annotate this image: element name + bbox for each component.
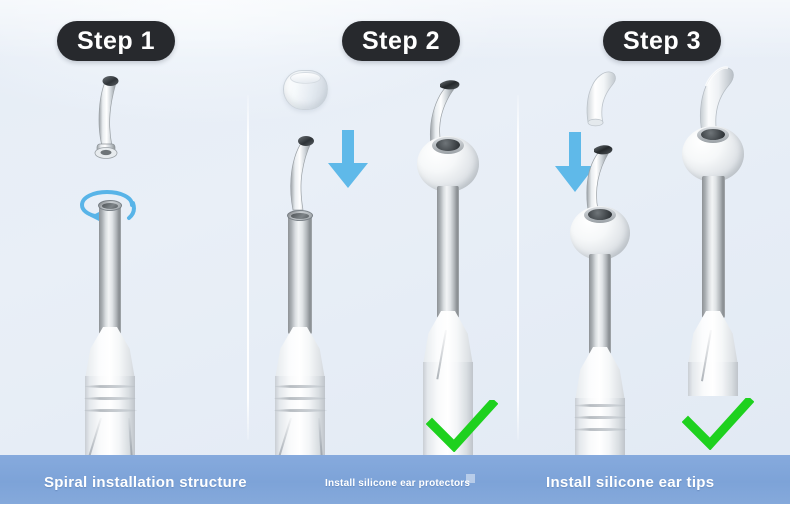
section-divider-1 <box>247 95 249 440</box>
metal-tip-icon <box>281 130 325 222</box>
green-check-icon <box>426 400 498 452</box>
caption-step-3: Install silicone ear tips <box>546 474 714 491</box>
handle-ring-2 <box>84 397 136 400</box>
metal-shaft-icon <box>589 254 611 354</box>
section-divider-2 <box>517 95 519 440</box>
arrow-down-icon <box>326 130 370 190</box>
metal-shaft-icon <box>702 176 725 318</box>
silicone-ear-tip-icon <box>578 66 622 128</box>
caption-step-1: Spiral installation structure <box>44 474 247 491</box>
bulb-hole <box>701 129 725 140</box>
handle-ring-3 <box>84 409 137 412</box>
handle-ring-3 <box>274 409 327 412</box>
shaft-opening-inner <box>102 203 118 209</box>
handle-ring-3 <box>574 428 627 431</box>
green-check-icon <box>682 398 754 450</box>
step-badge-3: Step 3 <box>603 21 721 61</box>
handle-ring-1 <box>575 404 625 407</box>
bulb-hole <box>588 209 612 220</box>
metal-tip-icon <box>578 140 622 216</box>
instruction-diagram: Step 1 Step 2 Step 3 Spiral installation… <box>0 0 790 520</box>
metal-tip-icon <box>88 70 134 162</box>
metal-shaft-icon <box>437 186 459 318</box>
silicone-ring-opening <box>290 72 321 84</box>
handle-body <box>688 362 738 396</box>
bulb-hole <box>436 139 460 151</box>
metal-shaft-icon <box>99 206 121 334</box>
handle-ring-1 <box>85 385 135 388</box>
step-badge-1: Step 1 <box>57 21 175 61</box>
shaft-opening-inner <box>291 213 309 219</box>
handle-ring-2 <box>574 416 626 419</box>
step-badge-2: Step 2 <box>342 21 460 61</box>
caption-step-2: Install silicone ear protectors <box>325 478 470 489</box>
metal-shaft-icon <box>288 216 312 334</box>
handle-ring-1 <box>275 385 325 388</box>
caption-artifact <box>466 474 475 483</box>
handle-ring-2 <box>274 397 326 400</box>
